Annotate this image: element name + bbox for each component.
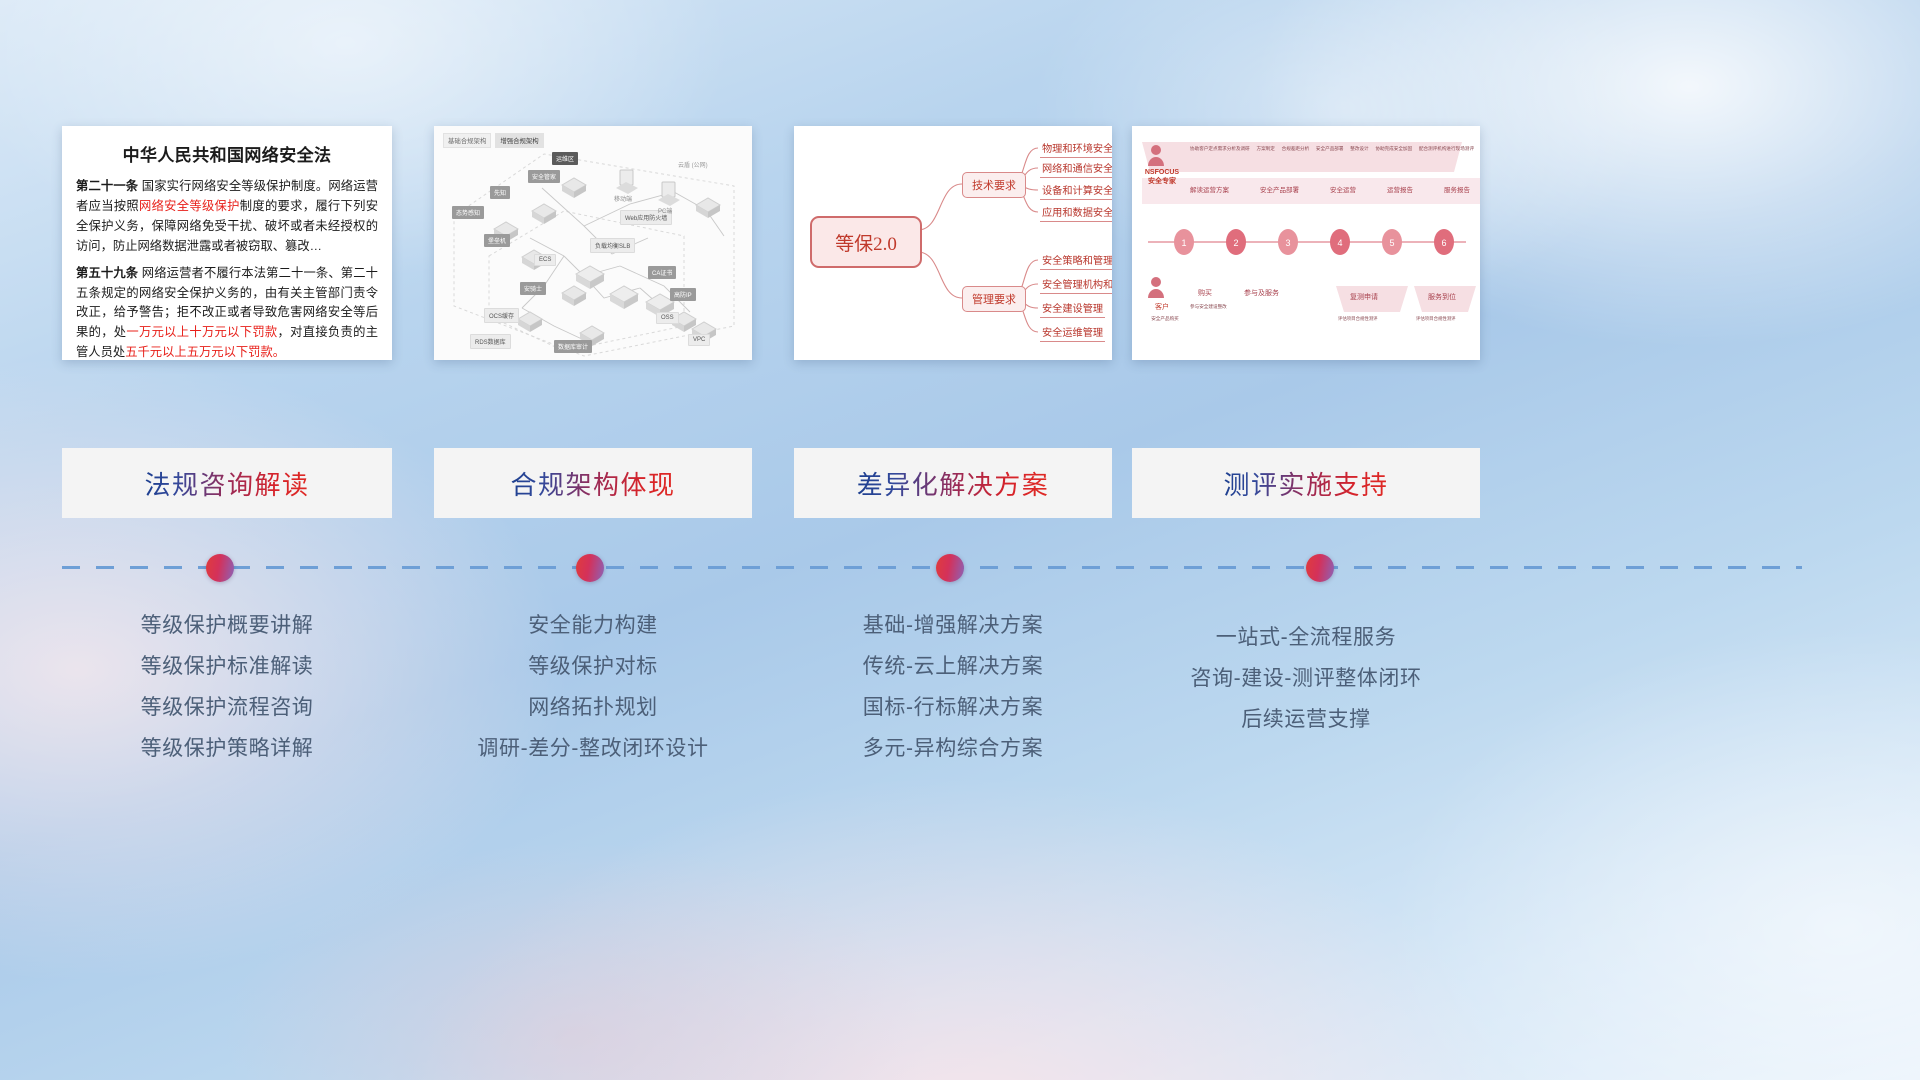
arch-node-ocs-cache: OCS缓存 — [484, 308, 519, 323]
law-article-21: 第二十一条 国家实行网络安全等级保护制度。网络运营者应当按照网络安全等级保护制度… — [76, 177, 378, 257]
timeline-dot-2[interactable] — [576, 554, 604, 582]
nsfocus-stage-5: 服务报告 — [1444, 184, 1470, 194]
arch-node-anqishi: 安骑士 — [520, 282, 546, 295]
svg-text:4: 4 — [1337, 238, 1342, 248]
content-stage: 中华人民共和国网络安全法 第二十一条 国家实行网络安全等级保护制度。网络运营者应… — [0, 0, 1920, 1080]
mindmap-leaf-construction-mgmt: 安全建设管理 — [1040, 300, 1105, 318]
mindmap-leaf-device-compute: 设备和计算安全 — [1040, 182, 1112, 200]
law-title: 中华人民共和国网络安全法 — [76, 141, 378, 166]
list-item: 调研-差分-整改闭环设计 — [434, 729, 752, 770]
nsfocus-top-label-1: 协助客户定点需求分析及调研 — [1190, 146, 1250, 152]
arch-node-rds-database: RDS数据库 — [470, 334, 511, 349]
list-item: 等级保护流程咨询 — [62, 688, 392, 729]
section-heading-2[interactable]: 合规架构体现 — [434, 448, 752, 518]
section-heading-3[interactable]: 差异化解决方案 — [794, 448, 1112, 518]
architecture-canvas: 基础合规架构 增强合规架构 — [434, 126, 752, 360]
arch-node-ecs: ECS — [534, 254, 556, 266]
nsfocus-stage-3: 安全运营 — [1330, 184, 1356, 194]
nsfocus-bottom-note-2: 参与安全建设整改 — [1190, 304, 1227, 310]
arch-node-db-audit: 数据库审计 — [554, 340, 592, 353]
arch-node-ca-cert: CA证书 — [648, 266, 676, 279]
nsfocus-stage-labels: 解读运营方案 安全产品部署 安全运营 运营报告 服务报告 — [1190, 184, 1470, 194]
arch-node-pc: PC端 — [654, 204, 676, 217]
arch-node-xianzhi: 先知 — [490, 186, 510, 199]
law-article-21-label: 第二十一条 — [76, 179, 138, 193]
mindmap-root: 等保2.0 — [810, 216, 922, 268]
nsfocus-bottom-note-3: 评估项目合规性测评 — [1338, 316, 1378, 322]
card-service-timeline: 123 456 NSFOCUS 安全专家 协助客户定点需求分析及调研 方案制定 … — [1132, 126, 1480, 360]
law-article-21-highlight: 网络安全等级保护 — [139, 199, 240, 213]
mindmap-leaf-policy-system: 安全策略和管理制度 — [1040, 252, 1112, 270]
list-item: 多元-异构综合方案 — [794, 729, 1112, 770]
nsfocus-top-label-5: 整改设计 — [1350, 146, 1368, 152]
list-item: 等级保护策略详解 — [62, 729, 392, 770]
list-item: 等级保护标准解读 — [62, 647, 392, 688]
nsfocus-brand-name: NSFOCUS — [1140, 168, 1184, 177]
nsfocus-top-label-2: 方案制定 — [1256, 146, 1274, 152]
architecture-node-icons — [494, 170, 720, 346]
section-heading-1-label: 法规咨询解读 — [144, 465, 309, 502]
nsfocus-top-label-6: 协助完成安全加固 — [1375, 146, 1412, 152]
section-heading-1[interactable]: 法规咨询解读 — [62, 448, 392, 518]
nsfocus-stage-2: 安全产品部署 — [1260, 184, 1299, 194]
law-article-59: 第五十九条 网络运营者不履行本法第二十一条、第二十五条规定的网络安全保护义务的，… — [76, 264, 378, 360]
law-document: 中华人民共和国网络安全法 第二十一条 国家实行网络安全等级保护制度。网络运营者应… — [62, 126, 392, 360]
timeline-dot-3[interactable] — [936, 554, 964, 582]
arch-node-vpc: VPC — [688, 334, 710, 346]
section-heading-4[interactable]: 测评实施支持 — [1132, 448, 1480, 518]
mindmap-branch-management: 管理要求 — [962, 286, 1026, 312]
law-article-59-highlight-1: 一万元以上十万元以下罚款 — [126, 325, 277, 339]
nsfocus-graphics: 123 456 — [1132, 126, 1480, 360]
nsfocus-bottom-label-service: 服务到位 — [1428, 292, 1456, 302]
mindmap-leaf-network-comm: 网络和通信安全 — [1040, 160, 1112, 178]
law-article-59-highlight-2: 五千元以上五万元以下罚款。 — [125, 345, 285, 359]
list-item: 传统-云上解决方案 — [794, 647, 1112, 688]
svg-text:2: 2 — [1233, 238, 1238, 248]
mindmap-leaf-physical-env: 物理和环境安全 — [1040, 140, 1112, 158]
section-list-2: 安全能力构建 等级保护对标 网络拓扑规划 调研-差分-整改闭环设计 — [434, 606, 752, 770]
timeline-dot-4[interactable] — [1306, 554, 1334, 582]
list-item: 一站式-全流程服务 — [1132, 618, 1480, 659]
nsfocus-top-label-4: 安全产品部署 — [1316, 146, 1344, 152]
mindmap-leaf-app-data: 应用和数据安全 — [1040, 204, 1112, 222]
svg-text:5: 5 — [1389, 238, 1394, 248]
list-item: 等级保护概要讲解 — [62, 606, 392, 647]
nsfocus-top-labels: 协助客户定点需求分析及调研 方案制定 合规差距分析 安全产品部署 整改设计 协助… — [1190, 146, 1474, 152]
nsfocus-bottom-note-4: 评估项目合规性测评 — [1416, 316, 1456, 322]
card-architecture-diagram: 基础合规架构 增强合规架构 — [434, 126, 752, 360]
list-item: 等级保护对标 — [434, 647, 752, 688]
section-list-4: 一站式-全流程服务 咨询-建设-测评整体闭环 后续运营支撑 — [1132, 618, 1480, 741]
section-heading-3-label: 差异化解决方案 — [857, 465, 1050, 502]
nsfocus-stage-1: 解读运营方案 — [1190, 184, 1229, 194]
arch-node-cloud-shield: 云盾 (公网) — [674, 158, 712, 171]
list-item: 后续运营支撑 — [1132, 700, 1480, 741]
arch-node-mobile: 移动端 — [610, 192, 636, 205]
nsfocus-canvas: 123 456 NSFOCUS 安全专家 协助客户定点需求分析及调研 方案制定 … — [1132, 126, 1480, 360]
nsfocus-bottom-label-participate: 参与及服务 — [1244, 288, 1279, 298]
section-heading-4-label: 测评实施支持 — [1223, 465, 1388, 502]
list-item: 国标-行标解决方案 — [794, 688, 1112, 729]
nsfocus-brand-sub: 安全专家 — [1140, 177, 1184, 186]
svg-text:3: 3 — [1285, 238, 1290, 248]
section-list-3: 基础-增强解决方案 传统-云上解决方案 国标-行标解决方案 多元-异构综合方案 — [794, 606, 1112, 770]
section-list-1: 等级保护概要讲解 等级保护标准解读 等级保护流程咨询 等级保护策略详解 — [62, 606, 392, 770]
arch-node-slb: 负载均衡SLB — [590, 238, 635, 253]
nsfocus-top-label-3: 合规差距分析 — [1282, 146, 1310, 152]
nsfocus-bottom-label-recheck: 复测申请 — [1350, 292, 1378, 302]
mindmap-branch-technical: 技术要求 — [962, 172, 1026, 198]
timeline-dashed-line — [62, 566, 1802, 569]
nsfocus-brand: NSFOCUS 安全专家 — [1140, 168, 1184, 186]
arch-node-security-butler: 安全管家 — [528, 170, 560, 183]
card-law-text: 中华人民共和国网络安全法 第二十一条 国家实行网络安全等级保护制度。网络运营者应… — [62, 126, 392, 360]
timeline-dot-1[interactable] — [206, 554, 234, 582]
list-item: 咨询-建设-测评整体闭环 — [1132, 659, 1480, 700]
arch-node-anti-ddos-ip: 高防IP — [670, 288, 696, 301]
arch-node-bastion-host: 堡垒机 — [484, 234, 510, 247]
list-item: 安全能力构建 — [434, 606, 752, 647]
nsfocus-customer-note: 安全产品购买 — [1140, 316, 1190, 322]
arch-node-situational-awareness: 态势感知 — [452, 206, 484, 219]
svg-text:1: 1 — [1181, 238, 1186, 248]
list-item: 网络拓扑规划 — [434, 688, 752, 729]
mindmap-leaf-org-personnel: 安全管理机构和人员 — [1040, 276, 1112, 294]
nsfocus-stage-4: 运营报告 — [1387, 184, 1413, 194]
section-heading-2-label: 合规架构体现 — [510, 465, 675, 502]
nsfocus-customer-label: 客户 — [1140, 302, 1184, 312]
list-item: 基础-增强解决方案 — [794, 606, 1112, 647]
svg-text:6: 6 — [1441, 238, 1446, 248]
nsfocus-top-label-7: 配合测评机构进行现场测评 — [1419, 146, 1474, 152]
card-mindmap: 等保2.0 技术要求 管理要求 物理和环境安全 网络和通信安全 设备和计算安全 … — [794, 126, 1112, 360]
mindmap-leaf-operation-mgmt: 安全运维管理 — [1040, 324, 1105, 342]
arch-node-oss: OSS — [656, 312, 679, 324]
nsfocus-bottom-label-buy: 购买 — [1198, 288, 1212, 298]
law-article-59-label: 第五十九条 — [76, 266, 138, 280]
arch-node-ops-zone: 运维区 — [552, 152, 578, 165]
mindmap-canvas: 等保2.0 技术要求 管理要求 物理和环境安全 网络和通信安全 设备和计算安全 … — [794, 126, 1112, 360]
